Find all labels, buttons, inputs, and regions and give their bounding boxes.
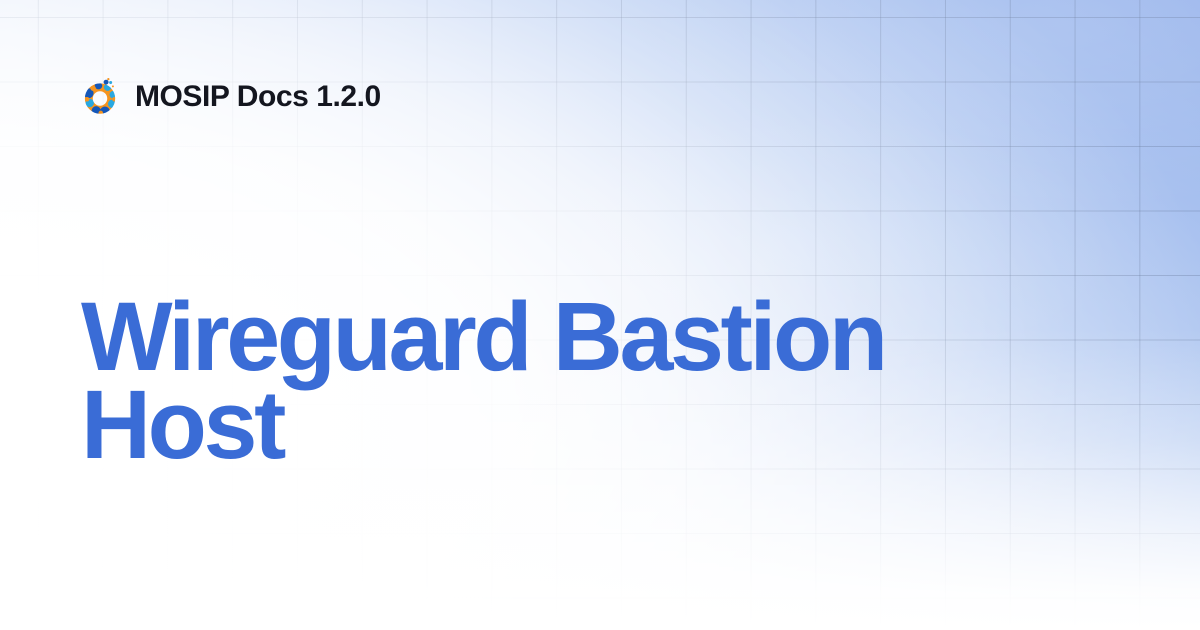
- og-social-card: MOSIP Docs 1.2.0 Wireguard Bastion Host: [0, 0, 1200, 630]
- page-title: Wireguard Bastion Host: [81, 293, 961, 468]
- brand-name-label: MOSIP Docs 1.2.0: [135, 82, 381, 112]
- mosip-donut-logo-icon: [81, 78, 119, 116]
- brand-header: MOSIP Docs 1.2.0: [81, 74, 1120, 120]
- hero-title-block: Wireguard Bastion Host: [81, 293, 1120, 468]
- card-content: MOSIP Docs 1.2.0 Wireguard Bastion Host: [0, 0, 1200, 630]
